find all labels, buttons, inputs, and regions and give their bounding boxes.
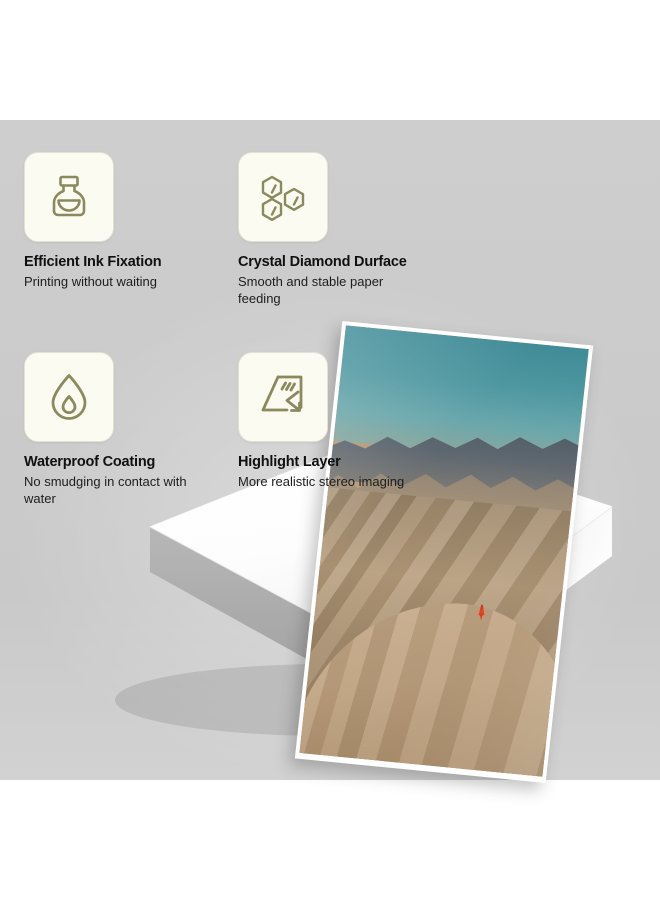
crystal-hexagons-icon (238, 152, 328, 242)
feature-grid: Efficient Ink Fixation Printing without … (24, 152, 444, 507)
feature-title: Crystal Diamond Durface (238, 254, 420, 271)
light-reflection-icon (238, 352, 328, 442)
water-drop-icon (24, 352, 114, 442)
product-infographic: Efficient Ink Fixation Printing without … (0, 0, 660, 900)
feature-item-crystal-surface: Crystal Diamond Durface Smooth and stabl… (238, 152, 420, 308)
feature-title: Waterproof Coating (24, 454, 206, 471)
feature-item-highlight-layer: Highlight Layer More realistic stereo im… (238, 352, 420, 508)
ink-bottle-icon (24, 152, 114, 242)
feature-description: Printing without waiting (24, 274, 206, 291)
feature-description: No smudging in contact with water (24, 474, 206, 507)
feature-title: Efficient Ink Fixation (24, 254, 206, 271)
feature-item-ink-fixation: Efficient Ink Fixation Printing without … (24, 152, 206, 308)
feature-title: Highlight Layer (238, 454, 420, 471)
feature-item-waterproof: Waterproof Coating No smudging in contac… (24, 352, 206, 508)
feature-description: More realistic stereo imaging (238, 474, 420, 491)
feature-description: Smooth and stable paper feeding (238, 274, 420, 307)
